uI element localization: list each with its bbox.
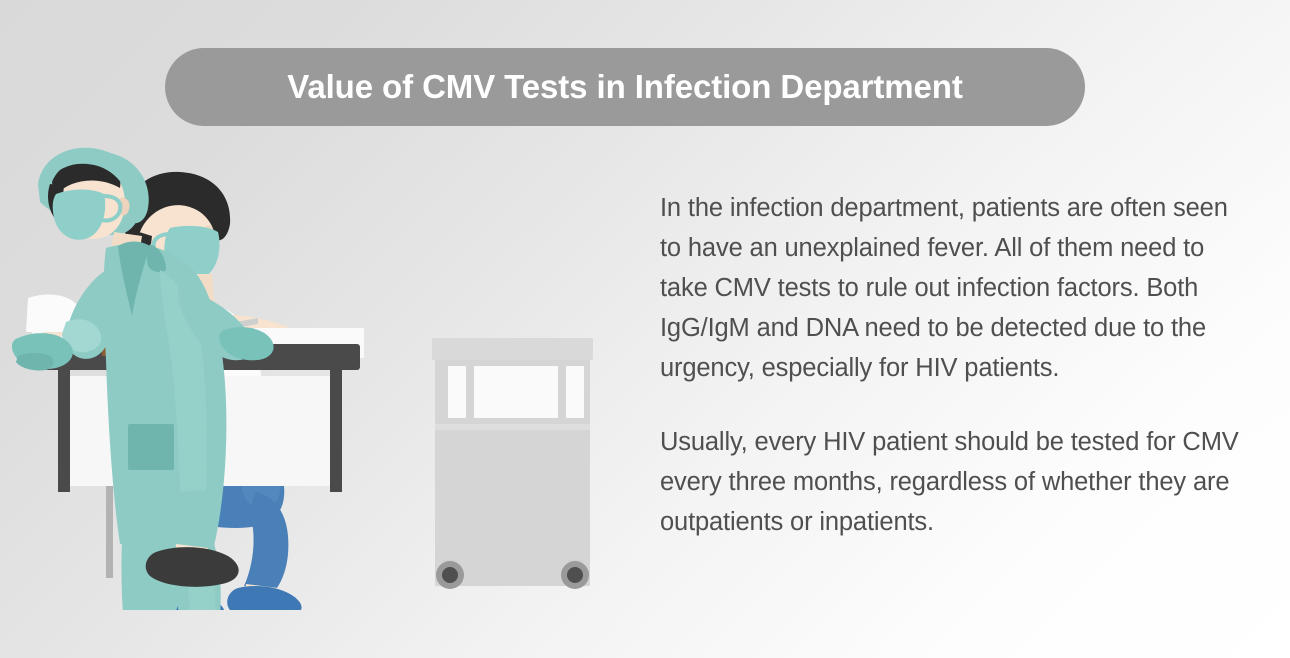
medical-cart: [432, 338, 593, 589]
infographic-page: Value of CMV Tests in Infection Departme…: [0, 0, 1290, 658]
page-title: Value of CMV Tests in Infection Departme…: [287, 68, 962, 106]
body-text-column: In the infection department, patients ar…: [660, 188, 1240, 542]
title-banner: Value of CMV Tests in Infection Departme…: [165, 48, 1085, 126]
blood-draw-illustration: [0, 140, 660, 610]
paragraph-two: Usually, every HIV patient should be tes…: [660, 422, 1240, 542]
paragraph-one: In the infection department, patients ar…: [660, 188, 1240, 388]
